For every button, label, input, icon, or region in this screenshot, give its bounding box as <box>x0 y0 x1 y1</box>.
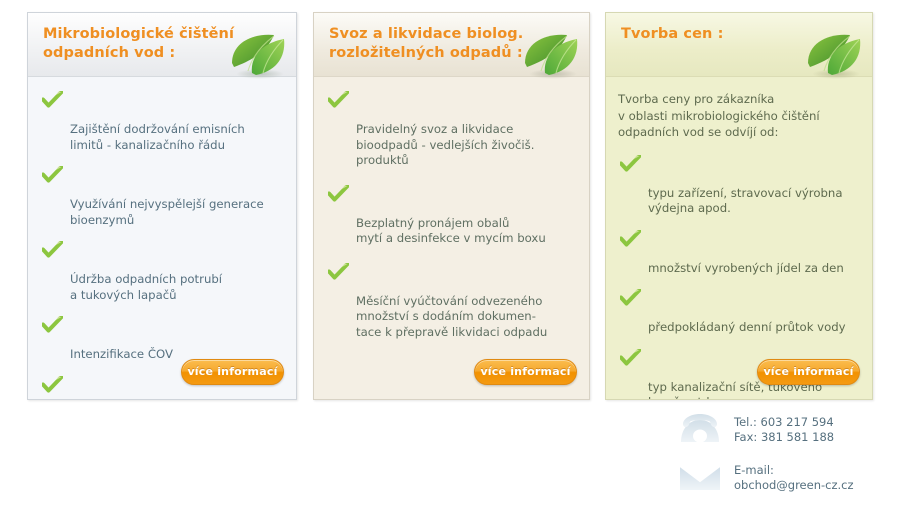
feature-list: Pravidelný svoz a likvidace bioodpadů - … <box>326 91 577 340</box>
checkmark-icon <box>620 349 641 366</box>
list-item: typu zařízení, stravovací výrobna výdejn… <box>618 155 860 217</box>
panel-header: Tvorba cen : <box>606 13 872 77</box>
panel-body: Tvorba ceny pro zákazníka v oblasti mikr… <box>606 77 872 400</box>
more-info-button[interactable]: více informací <box>474 359 577 385</box>
list-item-label: předpokládaný denní průtok vody <box>648 320 846 334</box>
contact-phone-text: Tel.: 603 217 594 Fax: 381 581 188 <box>734 412 834 444</box>
more-info-button[interactable]: více informací <box>757 359 860 385</box>
panel-header: Svoz a likvidace biolog. rozložitelných … <box>314 13 589 77</box>
contact-email-row: E-mail: obchod@green-cz.cz <box>676 460 891 494</box>
contact-email-text: E-mail: obchod@green-cz.cz <box>734 460 854 492</box>
panel-title: Svoz a likvidace biolog. rozložitelných … <box>329 25 523 63</box>
checkmark-icon <box>620 230 641 247</box>
list-item-label: Využívání nejvyspělejší generace bioenzy… <box>70 197 264 227</box>
list-item: množství vyrobených jídel za den <box>618 230 860 277</box>
panel-svoz-a-likvidace: Svoz a likvidace biolog. rozložitelných … <box>313 12 590 400</box>
list-item-label: Intenzifikace ČOV <box>70 347 173 361</box>
list-item-label: Měsíční vyúčtování odvezeného množství s… <box>356 294 547 339</box>
checkmark-icon <box>620 289 641 306</box>
list-item: Využívání nejvyspělejší generace bioenzy… <box>40 166 284 228</box>
panel-body: Zajištění dodržování emisních limitů - k… <box>28 77 296 400</box>
pricing-intro-text: Tvorba ceny pro zákazníka v oblasti mikr… <box>618 91 860 141</box>
more-info-button[interactable]: více informací <box>181 359 284 385</box>
panel-title: Mikrobiologické čištění odpadních vod : <box>43 25 234 63</box>
panel-tvorba-cen: Tvorba cen : <box>605 12 873 400</box>
checkmark-icon <box>620 155 641 172</box>
list-item-label: Pravidelný svoz a likvidace bioodpadů - … <box>356 122 534 167</box>
list-item: Intenzifikace ČOV <box>40 316 284 363</box>
contact-block: Tel.: 603 217 594 Fax: 381 581 188 E-mai… <box>676 412 891 508</box>
checkmark-icon <box>42 241 63 258</box>
panel-body: Pravidelný svoz a likvidace bioodpadů - … <box>314 77 589 400</box>
page-root: Mikrobiologické čištění odpadních vod : <box>0 0 900 498</box>
panel-mikrobiologicke-cisteni: Mikrobiologické čištění odpadních vod : <box>27 12 297 400</box>
checkmark-icon <box>328 91 349 108</box>
list-item-label: Údržba odpadních potrubí a tukových lapa… <box>70 272 222 302</box>
checkmark-icon <box>42 91 63 108</box>
list-item: předpokládaný denní průtok vody <box>618 289 860 336</box>
checkmark-icon <box>42 376 63 393</box>
list-item-label: množství vyrobených jídel za den <box>648 261 844 275</box>
panel-title: Tvorba cen : <box>621 25 723 44</box>
list-item: Údržba odpadních potrubí a tukových lapa… <box>40 241 284 303</box>
list-item-label: typu zařízení, stravovací výrobna výdejn… <box>648 186 843 216</box>
checkmark-icon <box>42 166 63 183</box>
leaf-logo-icon <box>798 27 868 79</box>
envelope-icon <box>676 460 724 494</box>
feature-list: Zajištění dodržování emisních limitů - k… <box>40 91 284 400</box>
telephone-icon <box>676 412 724 446</box>
list-item: Pravidelný svoz a likvidace bioodpadů - … <box>326 91 577 169</box>
panel-header: Mikrobiologické čištění odpadních vod : <box>28 13 296 77</box>
contact-phone-row: Tel.: 603 217 594 Fax: 381 581 188 <box>676 412 891 446</box>
list-item: Zajištění dodržování emisních limitů - k… <box>40 91 284 153</box>
checkmark-icon <box>328 263 349 280</box>
list-item: Bezplatný pronájem obalů mytí a desinfek… <box>326 185 577 247</box>
checkmark-icon <box>328 185 349 202</box>
leaf-logo-icon <box>515 27 585 79</box>
list-item-label: Bezplatný pronájem obalů mytí a desinfek… <box>356 216 546 246</box>
list-item-label: Zajištění dodržování emisních limitů - k… <box>70 122 245 152</box>
checkmark-icon <box>42 316 63 333</box>
list-item: Měsíční vyúčtování odvezeného množství s… <box>326 263 577 341</box>
